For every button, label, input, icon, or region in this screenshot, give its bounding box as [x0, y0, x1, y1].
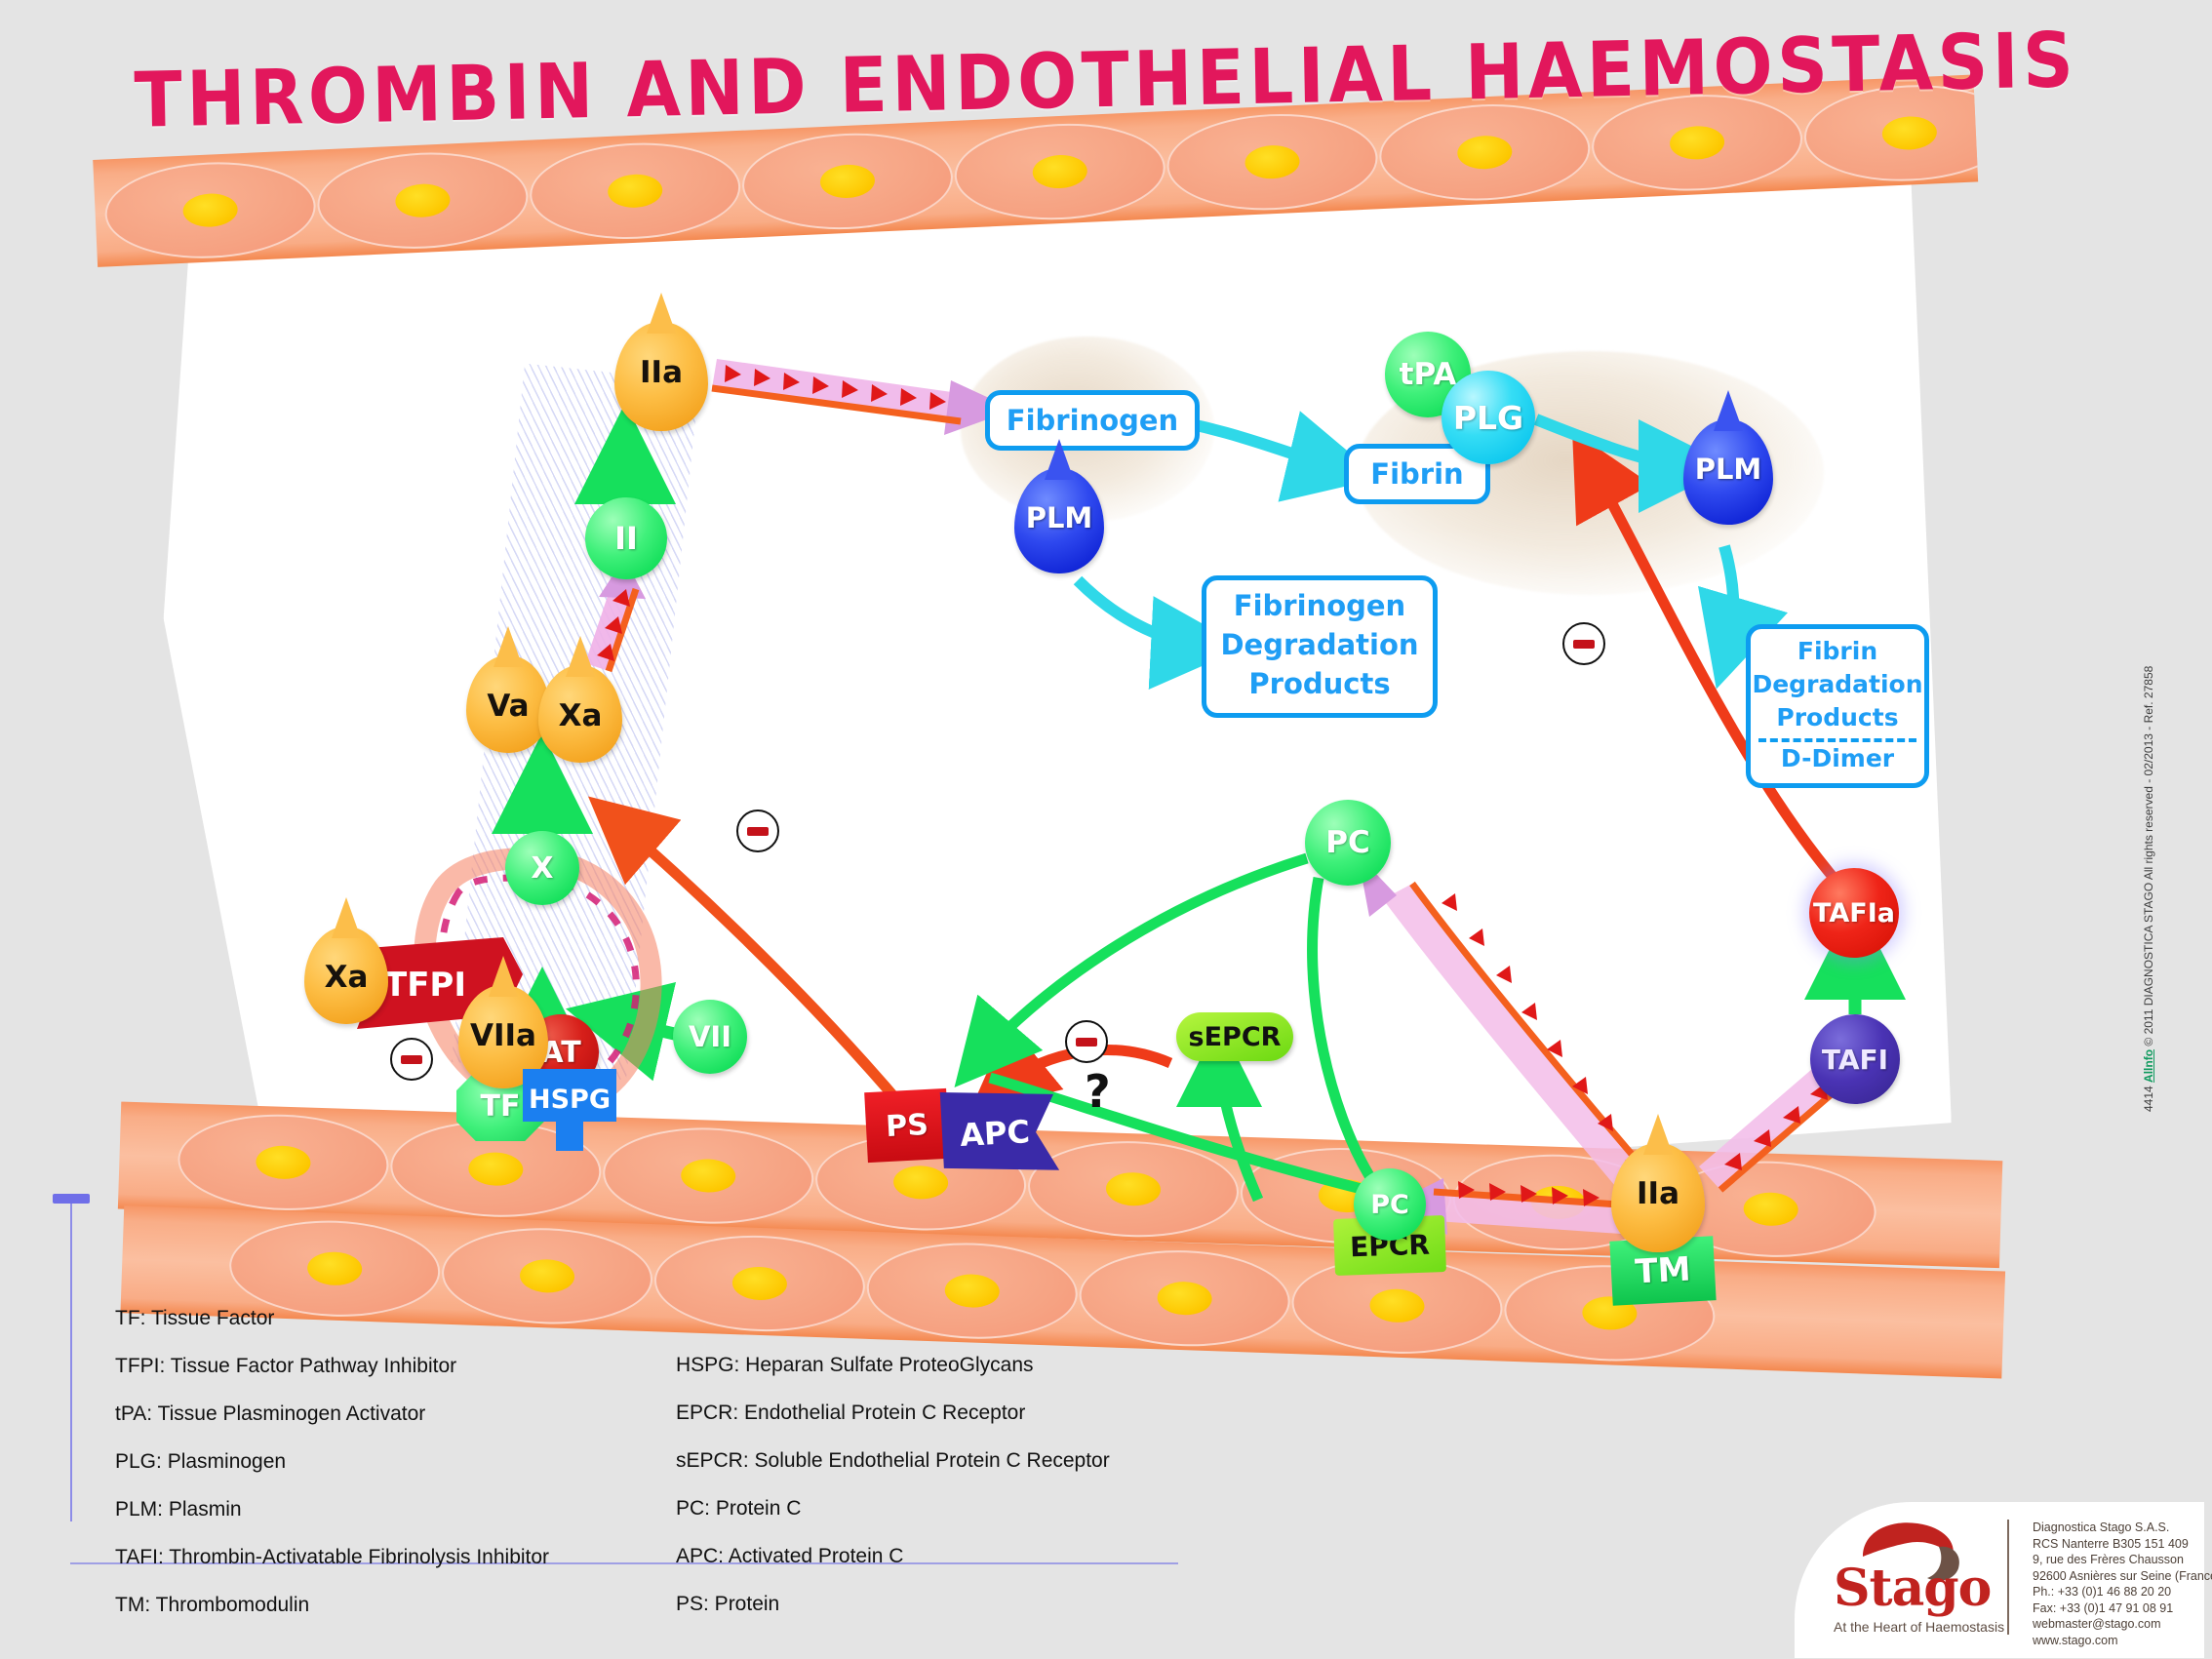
node-label: TF [481, 1089, 521, 1124]
legend-item: sEPCR: Soluble Endothelial Protein C Rec… [676, 1449, 1110, 1473]
fbdp-line-2: Degradation [1751, 668, 1924, 701]
node-iia-bottom[interactable]: IIa [1611, 1143, 1705, 1252]
node-label: sEPCR [1189, 1022, 1282, 1052]
legend-item: TFPI: Tissue Factor Pathway Inhibitor [115, 1355, 549, 1378]
footer-logo-block: Stago At the Heart of Haemostasis Diagno… [1795, 1502, 2204, 1658]
node-fibrin-degradation-products[interactable]: Fibrin Degradation Products D-Dimer [1746, 624, 1929, 788]
node-ps[interactable]: PS [864, 1088, 950, 1163]
legend-item: TM: Thrombomodulin [115, 1594, 549, 1617]
node-label: TAFI [1822, 1044, 1888, 1076]
node-pc-bottom[interactable]: PC [1354, 1168, 1426, 1241]
legend-item: APC: Activated Protein C [676, 1545, 1110, 1568]
legend-item: PLG: Plasminogen [115, 1450, 549, 1474]
allnfo-mark: Allnfo [2142, 1049, 2155, 1083]
node-label: tPA [1400, 357, 1457, 392]
node-label: HSPG [529, 1085, 611, 1115]
poster-canvas: THROMBIN AND ENDOTHELIAL HAEMOSTASIS [0, 0, 2212, 1659]
node-vii[interactable]: VII [673, 1000, 747, 1074]
address-line: Ph.: +33 (0)1 46 88 20 20 [2033, 1584, 2212, 1600]
footer-divider [2007, 1520, 2009, 1635]
legend-item: HSPG: Heparan Sulfate ProteoGlycans [676, 1354, 1110, 1377]
node-label: PC [1325, 825, 1369, 860]
node-label: PC [1370, 1190, 1409, 1220]
node-label: IIa [1611, 1176, 1705, 1211]
node-label: PLM [1014, 501, 1104, 534]
node-plm-right[interactable]: PLM [1683, 419, 1773, 525]
legend-bracket [70, 1200, 72, 1521]
legend-item: PS: Protein [676, 1593, 1110, 1616]
fbdp-line-3: Products [1751, 701, 1924, 734]
node-ii[interactable]: II [585, 497, 667, 579]
inhibition-symbol-tafia [1562, 622, 1605, 665]
thrombin-droplet-bottom: IIa [1611, 1143, 1705, 1252]
node-fdp[interactable]: Fibrinogen Degradation Products [1202, 575, 1438, 718]
legend-item: TAFI: Thrombin-Activatable Fibrinolysis … [115, 1546, 549, 1569]
legend-item: EPCR: Endothelial Protein C Receptor [676, 1402, 1110, 1425]
node-iia-top[interactable]: IIa [614, 322, 708, 431]
address-line: Diagnostica Stago S.A.S. [2033, 1520, 2212, 1536]
node-sepcr[interactable]: sEPCR [1176, 1012, 1293, 1061]
node-d-dimer: D-Dimer [1751, 742, 1924, 775]
node-label: TAFIa [1813, 898, 1895, 928]
fdp-line-2: Degradation [1206, 625, 1433, 664]
node-label: TM [1634, 1250, 1691, 1292]
node-xa-left[interactable]: Xa [304, 927, 388, 1024]
node-x[interactable]: X [505, 831, 579, 905]
legend-item: TF: Tissue Factor [115, 1307, 549, 1330]
factor-xa-left-droplet: Xa [304, 927, 388, 1024]
node-pc-top[interactable]: PC [1305, 800, 1391, 886]
address-line: 92600 Asnières sur Seine (France) [2033, 1568, 2212, 1585]
node-label: PLM [1683, 453, 1773, 486]
address-line: RCS Nanterre B305 151 409 [2033, 1536, 2212, 1553]
node-label: PS [885, 1107, 928, 1143]
node-tafi[interactable]: TAFI [1810, 1014, 1900, 1104]
fdp-line-3: Products [1206, 664, 1433, 703]
copyright-code: 4414 [2142, 1086, 2155, 1112]
legend-column-right: HSPG: Heparan Sulfate ProteoGlycans EPCR… [676, 1354, 1110, 1640]
node-plg[interactable]: PLG [1442, 371, 1535, 464]
node-apc[interactable]: APC [939, 1079, 1090, 1185]
node-label: IIa [614, 355, 708, 390]
node-label: Xa [304, 960, 388, 995]
node-hspg[interactable]: HSPG [523, 1069, 630, 1181]
thrombin-droplet: IIa [614, 322, 708, 431]
node-label: Fibrin [1370, 457, 1463, 491]
address-line[interactable]: www.stago.com [2033, 1633, 2212, 1649]
address-line: 9, rue des Frères Chausson [2033, 1552, 2212, 1568]
copyright-text: © 2011 DIAGNOSTICA STAGO All rights rese… [2142, 666, 2155, 1047]
inhibition-symbol-sepcr [1065, 1020, 1108, 1063]
node-label: TFPI [384, 966, 466, 1005]
inhibition-symbol-xa [736, 810, 779, 852]
plasmin-droplet-right: PLM [1683, 419, 1773, 525]
legend-item: PC: Protein C [676, 1497, 1110, 1521]
question-mark-label: ? [1085, 1065, 1111, 1118]
stago-wordmark: Stago [1834, 1559, 1991, 1618]
node-label: X [531, 851, 553, 886]
node-label: VII [689, 1020, 731, 1053]
stago-tagline: At the Heart of Haemostasis [1834, 1619, 2004, 1635]
node-label: Fibrinogen [1007, 404, 1178, 437]
inhibition-symbol-tfpi [390, 1038, 433, 1081]
node-label: VIIa [458, 1018, 548, 1053]
fbdp-line-1: Fibrin [1751, 635, 1924, 668]
address-line: webmaster@stago.com [2033, 1616, 2212, 1633]
legend-column-left: TF: Tissue Factor TFPI: Tissue Factor Pa… [115, 1307, 549, 1641]
node-label: II [614, 520, 638, 557]
address-line: Fax: +33 (0)1 47 91 08 91 [2033, 1600, 2212, 1617]
legend-item: PLM: Plasmin [115, 1498, 549, 1521]
node-label: PLG [1453, 399, 1523, 437]
node-label: Xa [538, 698, 622, 733]
footer-address: Diagnostica Stago S.A.S. RCS Nanterre B3… [2033, 1520, 2212, 1648]
factor-xa-droplet: Xa [538, 665, 622, 763]
node-tafia[interactable]: TAFIa [1809, 868, 1899, 958]
node-fibrinogen[interactable]: Fibrinogen [985, 390, 1200, 451]
fdp-line-1: Fibrinogen [1206, 586, 1433, 625]
node-label: APC [959, 1113, 1031, 1154]
node-xa-mid[interactable]: Xa [538, 665, 622, 763]
plasmin-droplet-left: PLM [1014, 468, 1104, 573]
copyright-notice: 4414 Allnfo © 2011 DIAGNOSTICA STAGO All… [2142, 666, 2155, 1112]
node-plm-left[interactable]: PLM [1014, 468, 1104, 573]
legend-item: tPA: Tissue Plasminogen Activator [115, 1402, 549, 1426]
